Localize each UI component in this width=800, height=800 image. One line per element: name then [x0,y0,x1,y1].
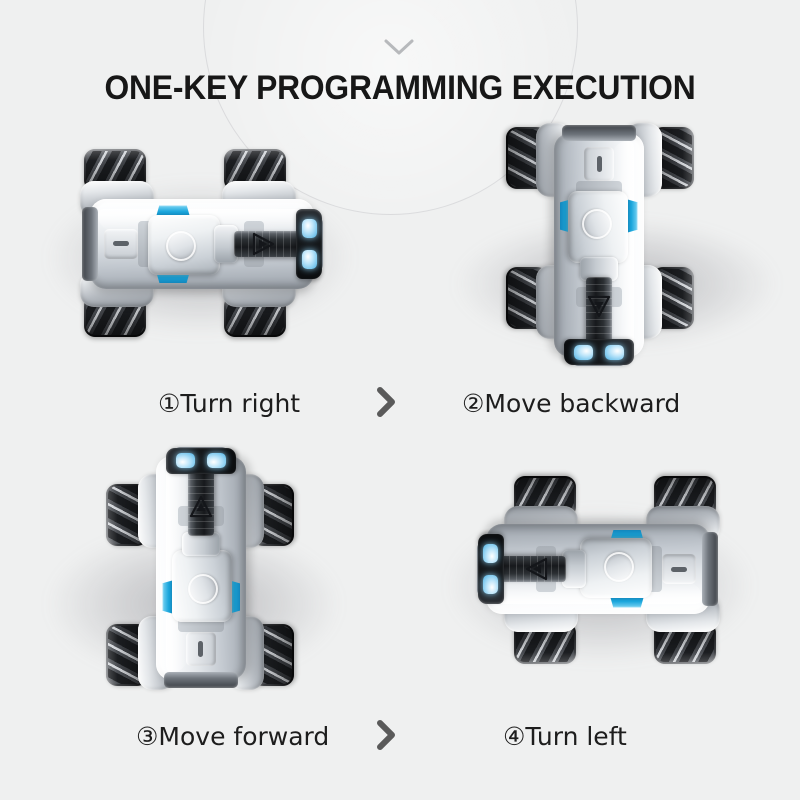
warning-triangle-icon [524,556,550,582]
battery-hatch [584,147,614,181]
step-panel-3 [0,440,400,700]
car-image-1 [0,118,400,368]
turret-ring [166,231,196,261]
step-caption-4: ④Turn left [503,722,627,751]
rear-plate [82,207,98,281]
led-light [483,575,498,594]
led-light [574,345,593,360]
battery-hatch [662,554,696,584]
led-light [302,250,317,269]
rear-plate [164,672,238,688]
chevron-right-icon [373,718,399,752]
led-light [605,345,624,360]
chevron-down-icon [382,36,416,58]
car-image-2 [400,118,800,368]
rc-stunt-car-top-view [474,470,726,670]
led-light [207,453,226,468]
rc-stunt-car-top-view [500,117,700,369]
turret-hub [172,550,232,622]
rc-stunt-car-top-view [74,143,326,343]
turret-ring [582,209,612,239]
rear-plate [702,532,718,606]
headlight-panel [478,534,504,604]
step-caption-3: ③Move forward [136,722,329,751]
headlight-panel [166,448,236,474]
warning-triangle-icon [250,231,276,257]
warning-triangle-icon [586,293,612,319]
step-panel-4 [400,440,800,700]
warning-triangle-icon [188,494,214,520]
turret-ring [188,574,218,604]
led-light [302,219,317,238]
turret-hub [148,215,220,275]
step-caption-2: ②Move backward [462,389,680,418]
step-caption-1: ①Turn right [158,389,300,418]
step-panel-1 [0,118,400,368]
rc-stunt-car-top-view [100,444,300,696]
battery-hatch [186,632,216,666]
car-image-4 [400,440,800,700]
step-panel-2 [400,118,800,368]
page-title: ONE-KEY PROGRAMMING EXECUTION [26,69,774,108]
turret-hub [568,191,628,263]
led-light [176,453,195,468]
chevron-right-icon [373,385,399,419]
turret-ring [604,552,634,582]
headlight-panel [296,209,322,279]
headlight-panel [564,339,634,365]
led-light [483,544,498,563]
car-image-3 [0,440,400,700]
battery-hatch [104,229,138,259]
turret-hub [580,538,652,598]
rear-plate [562,125,636,141]
